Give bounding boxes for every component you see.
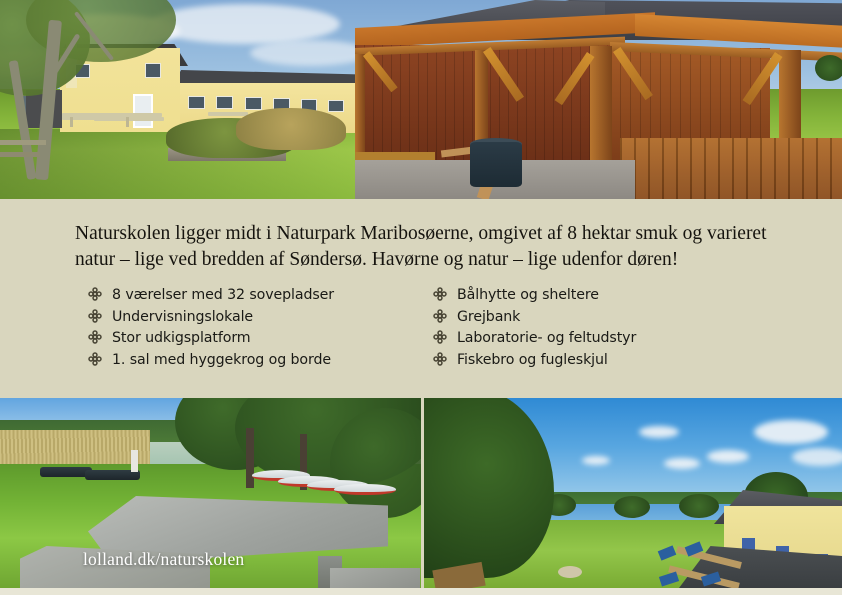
list-item: 1. sal med hyggekrog og borde	[88, 350, 433, 368]
tree-canopy	[614, 496, 650, 518]
floral-ornament-bullet-icon	[433, 352, 447, 366]
features-column-left: 8 værelser med 32 sovepladser	[88, 285, 433, 372]
floral-ornament-bullet-icon	[88, 352, 102, 366]
features-columns: 8 værelser med 32 sovepladser	[88, 285, 808, 372]
tree-behind-shelter	[815, 55, 842, 81]
bottom-margin-strip	[0, 588, 842, 595]
shelter-post	[355, 54, 365, 164]
list-item: 8 værelser med 32 sovepladser	[88, 285, 433, 303]
window	[245, 97, 262, 110]
info-band: Naturskolen ligger midt i Naturpark Mari…	[0, 199, 842, 398]
list-item-label: Laboratorie- og feltudstyr	[457, 329, 636, 347]
list-item: Stor udkigsplatform	[88, 328, 433, 346]
cloud	[664, 458, 700, 469]
photo-top-shelter	[0, 0, 842, 199]
window	[188, 96, 205, 109]
bench	[208, 112, 248, 116]
bench-leg	[70, 117, 73, 127]
foreground-tree	[424, 398, 554, 578]
list-item-label: 1. sal med hyggekrog og borde	[112, 351, 331, 369]
reed-clump	[236, 108, 346, 150]
floral-ornament-bullet-icon	[88, 330, 102, 344]
features-column-right: Bålhytte og sheltere	[433, 285, 778, 372]
cloud	[707, 450, 749, 463]
list-item-label: 8 værelser med 32 sovepladser	[112, 286, 334, 304]
cloud	[582, 456, 610, 465]
fire-ring	[558, 566, 582, 578]
floral-ornament-bullet-icon	[433, 330, 447, 344]
fire-barrel	[470, 142, 522, 187]
floral-ornament-bullet-icon	[433, 287, 447, 301]
list-item: Laboratorie- og feltudstyr	[433, 328, 778, 346]
shelter-bench	[355, 152, 435, 160]
picnic-bench	[0, 152, 40, 157]
bench	[94, 117, 164, 121]
list-item-label: Bålhytte og sheltere	[457, 286, 599, 304]
list-item: Grejbank	[433, 307, 778, 325]
cloud	[792, 448, 842, 466]
list-item: Undervisningslokale	[88, 307, 433, 325]
bench	[62, 113, 162, 117]
post	[131, 450, 138, 472]
floral-ornament-bullet-icon	[433, 309, 447, 323]
cloud	[639, 426, 679, 438]
photo-bottom-right-lake-panorama	[424, 398, 842, 588]
wooden-shelter	[355, 0, 842, 199]
list-item-label: Fiskebro og fugleskjul	[457, 351, 608, 369]
cloud	[150, 4, 340, 44]
list-item-label: Undervisningslokale	[112, 308, 253, 326]
window	[328, 100, 344, 112]
canoe	[334, 484, 396, 495]
picnic-table	[0, 140, 46, 145]
list-item-label: Grejbank	[457, 308, 520, 326]
brochure-page: Naturskolen ligger midt i Naturpark Mari…	[0, 0, 842, 595]
list-item-label: Stor udkigsplatform	[112, 329, 251, 347]
window	[216, 96, 233, 109]
intro-paragraph: Naturskolen ligger midt i Naturpark Mari…	[75, 221, 775, 273]
cloud	[250, 40, 370, 66]
list-item: Bålhytte og sheltere	[433, 285, 778, 303]
floral-ornament-bullet-icon	[88, 287, 102, 301]
floral-ornament-bullet-icon	[88, 309, 102, 323]
stone-bench	[330, 568, 420, 588]
cloud	[754, 420, 828, 444]
shelter-wainscot	[620, 138, 842, 199]
tree-canopy	[679, 494, 719, 518]
tree-trunk	[246, 428, 254, 488]
list-item: Fiskebro og fugleskjul	[433, 350, 778, 368]
door	[133, 94, 153, 128]
bench-leg	[126, 117, 129, 127]
website-url[interactable]: lolland.dk/naturskolen	[83, 549, 244, 570]
window	[145, 63, 161, 78]
